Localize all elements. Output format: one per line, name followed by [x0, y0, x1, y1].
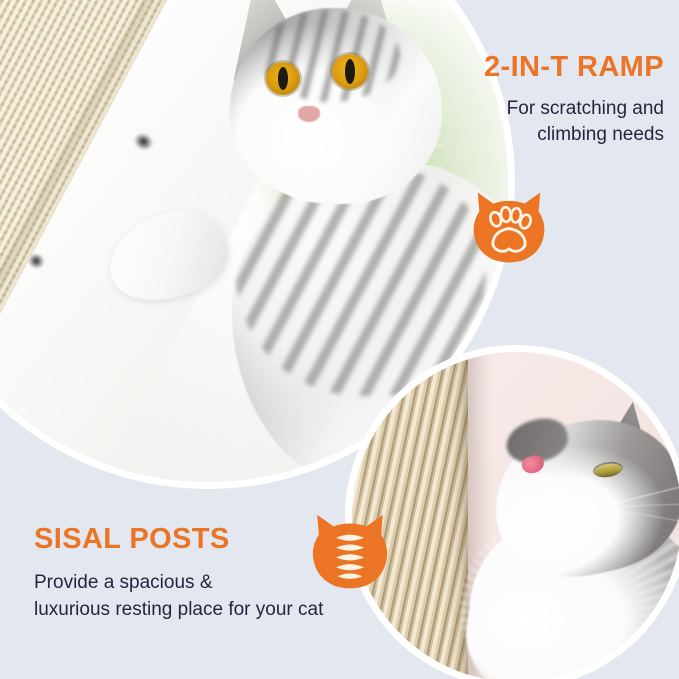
cat-tabby-nose — [298, 106, 320, 122]
photo-post — [352, 352, 679, 679]
feature-description-ramp-line-2: climbing needs — [412, 122, 664, 148]
feature-description-sisal-line-2: luxurious resting place for your cat — [34, 597, 364, 624]
feature-description-ramp-line-1: For scratching and — [412, 96, 664, 122]
feature-text-ramp: 2-IN-T RAMP For scratching and climbing … — [412, 52, 664, 148]
cat-fluffy — [448, 396, 679, 679]
cat-tabby-eye-left — [266, 62, 300, 95]
cat-head-rope-icon — [308, 510, 392, 592]
cat-tabby-eye-right — [332, 54, 368, 89]
feature-heading-ramp: 2-IN-T RAMP — [412, 52, 664, 84]
cat-fluffy-whiskers — [500, 468, 679, 546]
cat-head-paw-icon — [470, 188, 548, 266]
feature-description-ramp: For scratching and climbing needs — [412, 96, 664, 148]
feature-collage-canvas: 2-IN-T RAMP For scratching and climbing … — [0, 0, 679, 679]
